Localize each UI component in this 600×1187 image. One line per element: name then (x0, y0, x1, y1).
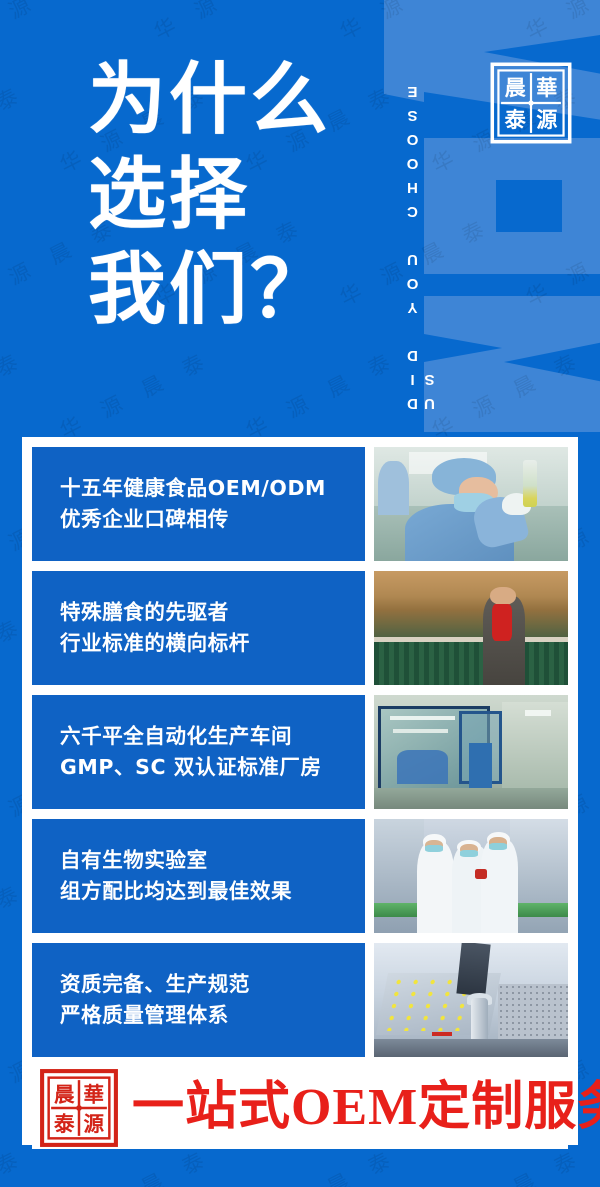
svg-text:源: 源 (84, 1112, 105, 1136)
vertical-tagline: DID YOU CHOOSE US (404, 28, 438, 412)
feature-line-2: 组方配比均达到最佳效果 (60, 876, 365, 907)
feature-line-1: 十五年健康食品OEM/ODM (60, 473, 365, 504)
feature-card[interactable]: 特殊膳食的先驱者 行业标准的横向标杆 (32, 571, 568, 685)
feature-card[interactable]: 自有生物实验室 组方配比均达到最佳效果 (32, 819, 568, 933)
feature-line-1: 资质完备、生产规范 (60, 969, 365, 1000)
lab-technician-photo (374, 447, 568, 561)
title-line-3: 我们？ (88, 242, 331, 337)
hero-section: 为什么 选择 我们？ DID YOU CHOOSE US 晨 華 泰 源 (0, 0, 600, 432)
feature-card[interactable]: 十五年健康食品OEM/ODM 优秀企业口碑相传 (32, 447, 568, 561)
feature-card-text: 六千平全自动化生产车间 GMP、SC 双认证标准厂房 (32, 695, 365, 809)
svg-text:華: 華 (536, 75, 557, 100)
conference-audience-photo (374, 571, 568, 685)
capsule-packaging-photo (374, 943, 568, 1057)
feature-line-1: 特殊膳食的先驱者 (60, 597, 365, 628)
feature-line-2: 严格质量管理体系 (60, 1000, 365, 1031)
feature-card[interactable]: 资质完备、生产规范 严格质量管理体系 (32, 943, 568, 1057)
lab-staff-production-photo (374, 819, 568, 933)
company-seal-red: 晨 華 泰 源 (38, 1067, 120, 1149)
feature-line-2: GMP、SC 双认证标准厂房 (60, 752, 365, 783)
title-line-2: 选择 (88, 147, 331, 242)
cleanroom-corridor-photo (374, 695, 568, 809)
svg-text:華: 華 (84, 1082, 105, 1106)
title-line-1: 为什么 (88, 52, 331, 147)
feature-card-list: 十五年健康食品OEM/ODM 优秀企业口碑相传 特殊膳食的先驱者 行业标准的横向… (32, 447, 568, 1057)
svg-text:泰: 泰 (505, 107, 527, 132)
watermark-text: 华 源 晨 泰 (0, 1141, 31, 1187)
feature-line-1: 自有生物实验室 (60, 845, 365, 876)
feature-line-1: 六千平全自动化生产车间 (60, 721, 365, 752)
bottom-banner: 晨 華 泰 源 一站式OEM定制服务 (32, 1067, 568, 1149)
svg-text:晨: 晨 (54, 1082, 75, 1106)
svg-text:源: 源 (536, 107, 557, 132)
feature-line-2: 行业标准的横向标杆 (60, 628, 365, 659)
feature-card-text: 自有生物实验室 组方配比均达到最佳效果 (32, 819, 365, 933)
feature-line-2: 优秀企业口碑相传 (60, 504, 365, 535)
feature-card-text: 十五年健康食品OEM/ODM 优秀企业口碑相传 (32, 447, 365, 561)
feature-card-text: 特殊膳食的先驱者 行业标准的横向标杆 (32, 571, 365, 685)
feature-card-text: 资质完备、生产规范 严格质量管理体系 (32, 943, 365, 1057)
company-seal: 晨 華 泰 源 (487, 58, 575, 148)
feature-card[interactable]: 六千平全自动化生产车间 GMP、SC 双认证标准厂房 (32, 695, 568, 809)
banner-slogan: 一站式OEM定制服务 (132, 1082, 600, 1134)
features-panel: 十五年健康食品OEM/ODM 优秀企业口碑相传 特殊膳食的先驱者 行业标准的横向… (22, 437, 578, 1145)
page-title: 为什么 选择 我们？ (88, 52, 331, 337)
svg-text:泰: 泰 (53, 1112, 75, 1136)
svg-text:晨: 晨 (505, 75, 527, 100)
